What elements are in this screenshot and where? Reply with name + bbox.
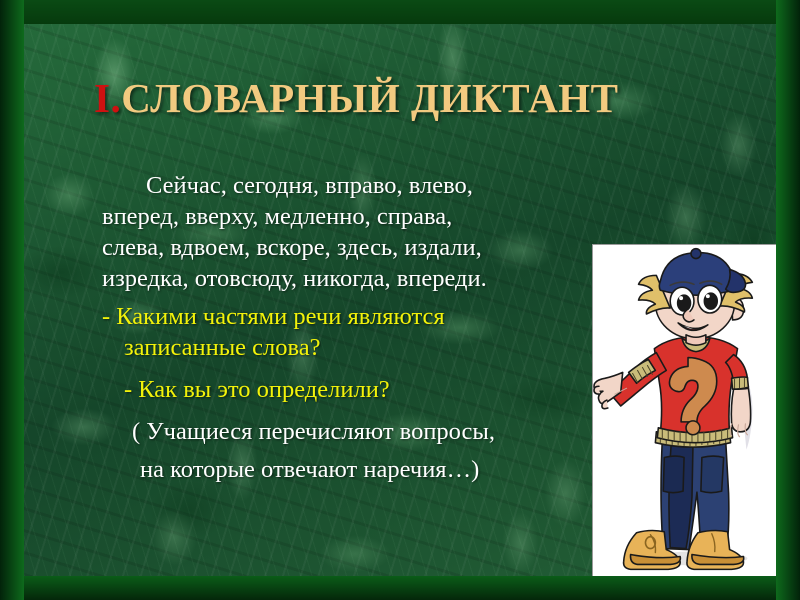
question-block-2: - Как вы это определили? — [102, 374, 662, 405]
dictation-line: Сейчас, сегодня, вправо, влево, — [102, 170, 662, 201]
slide-body: Сейчас, сегодня, вправо, влево, вперед, … — [102, 170, 662, 485]
question-line: записанные слова? — [102, 332, 662, 363]
spacer — [102, 447, 662, 454]
question-block-1: - Какими частями речи являются записанны… — [102, 301, 662, 363]
note-line: ( Учащиеся перечисляют вопросы, — [102, 416, 662, 447]
spacer — [102, 363, 662, 374]
question-line: - Как вы это определили? — [102, 374, 662, 405]
dictation-block: Сейчас, сегодня, вправо, влево, вперед, … — [102, 170, 662, 294]
question-line: - Какими частями речи являются — [102, 301, 662, 332]
title-text: СЛОВАРНЫЙ ДИКТАНТ — [121, 75, 618, 121]
spacer — [102, 294, 662, 301]
dictation-line: изредка, отовсюду, никогда, впереди. — [102, 263, 662, 294]
cartoon-boy-pointing-image — [592, 244, 776, 576]
slide-frame-right — [776, 0, 800, 600]
slide-canvas: I.СЛОВАРНЫЙ ДИКТАНТ Сейчас, сегодня, впр… — [24, 24, 776, 576]
title-number: I. — [94, 75, 121, 121]
presentation-slide: I.СЛОВАРНЫЙ ДИКТАНТ Сейчас, сегодня, впр… — [0, 0, 800, 600]
slide-frame-top — [0, 0, 800, 24]
spacer — [102, 405, 662, 416]
slide-frame-left — [0, 0, 24, 600]
note-block: ( Учащиеся перечисляют вопросы, на котор… — [102, 416, 662, 485]
slide-frame-bottom — [0, 576, 800, 600]
note-line: на которые отвечают наречия…) — [102, 454, 662, 485]
dictation-line: вперед, вверху, медленно, справа, — [102, 201, 662, 232]
page-title: I.СЛОВАРНЫЙ ДИКТАНТ — [94, 78, 618, 119]
dictation-line: слева, вдвоем, вскоре, здесь, издали, — [102, 232, 662, 263]
